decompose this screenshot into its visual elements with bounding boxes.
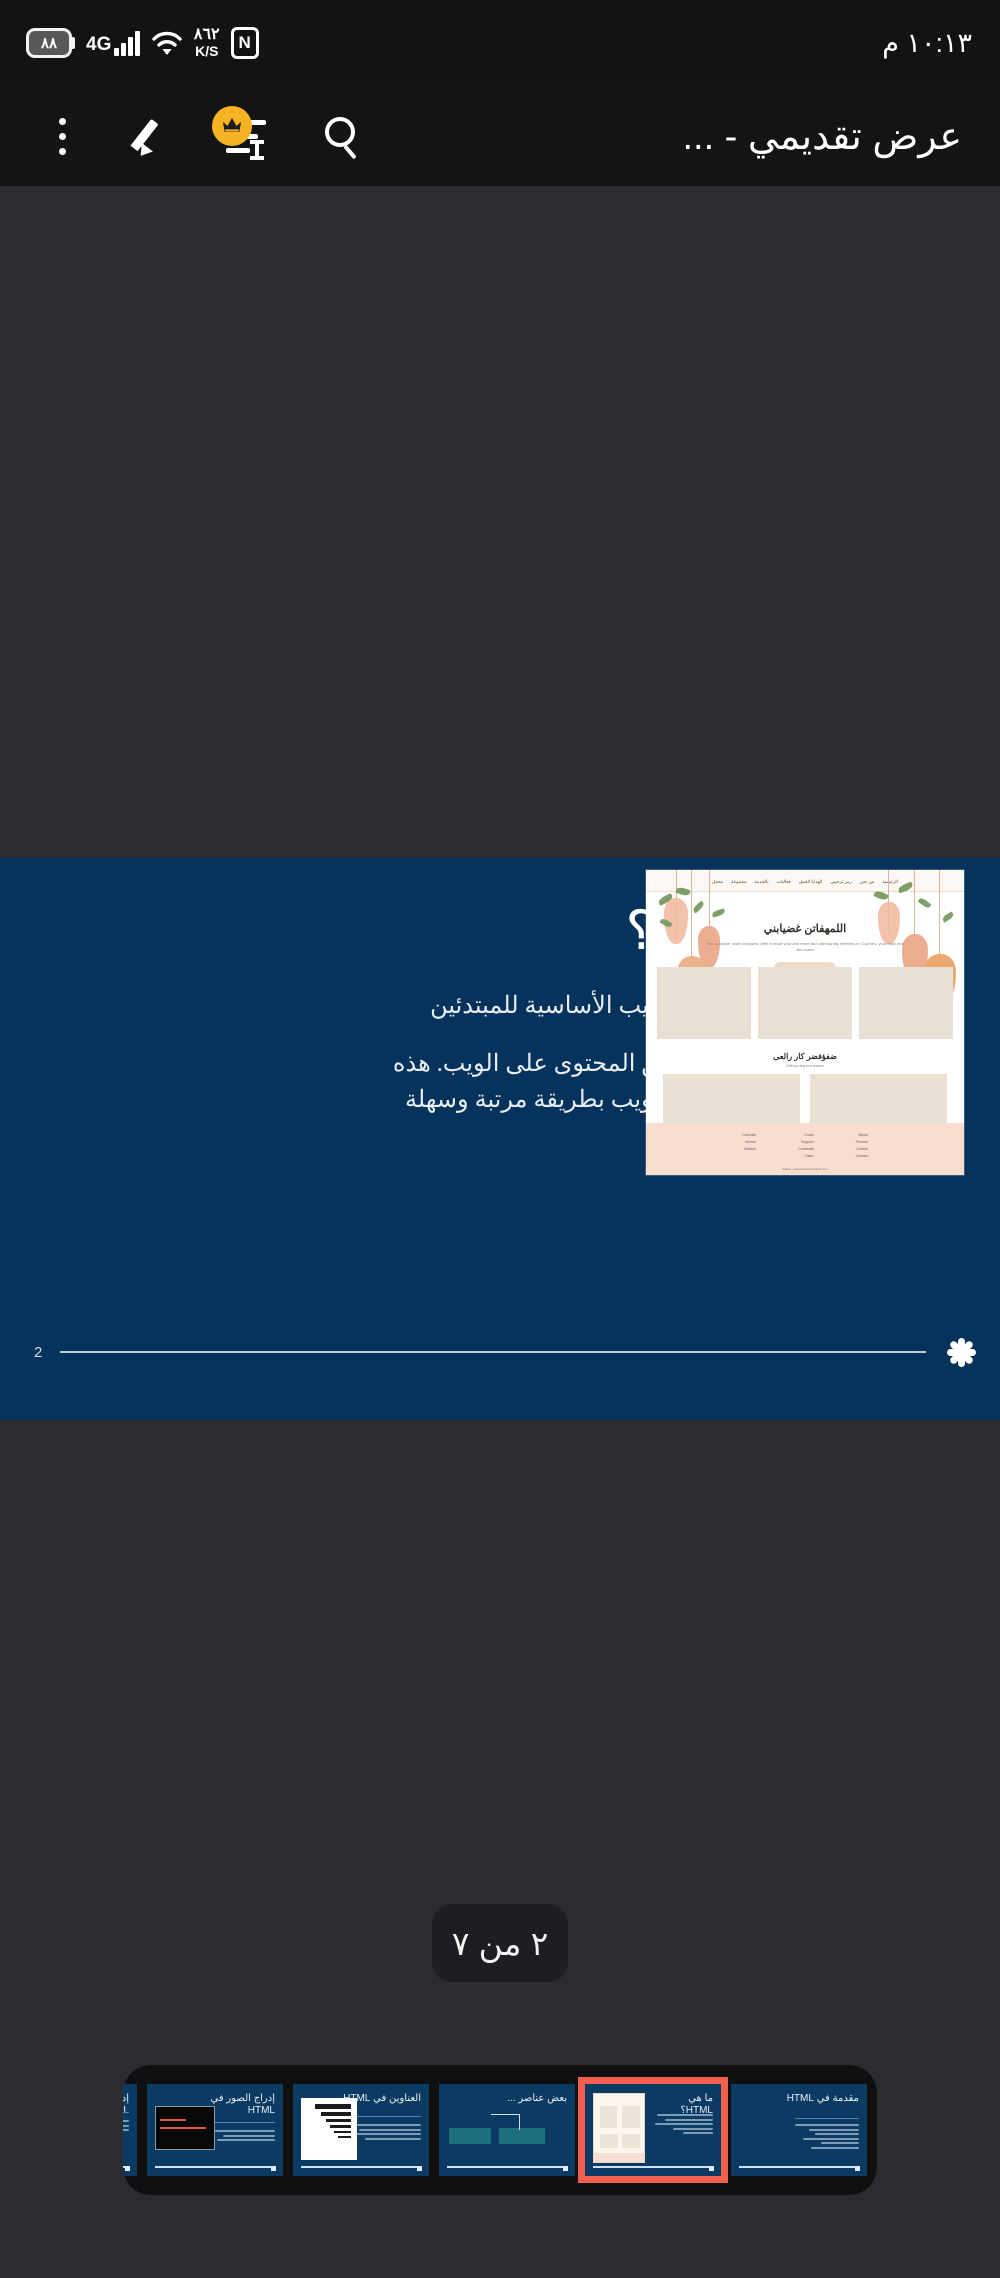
- mockup-footer-link: Cowh: [798, 1133, 814, 1137]
- mockup-card: [657, 967, 751, 1039]
- pencil-icon: [134, 114, 178, 158]
- thumbnail-bottom-bar: [155, 2166, 275, 2168]
- slide-footer: 2: [0, 1332, 1000, 1372]
- status-bar-clock: ١٠:١٣ م: [882, 28, 972, 59]
- thumbnail-title: مقدمة في HTML: [785, 2093, 859, 2105]
- thumbnail-bottom-bar: [301, 2166, 421, 2168]
- mockup-footer-link: Correst: [856, 1147, 868, 1151]
- mockup-nav-link: بالخدمة: [755, 879, 769, 885]
- mockup-footer-link: Promke: [856, 1140, 868, 1144]
- more-options-button[interactable]: [18, 92, 106, 180]
- thumbnail-code-block: [155, 2106, 215, 2150]
- mockup-card-row-1: [657, 967, 953, 1039]
- mockup-nav-link: الهدايا الجمل: [799, 879, 823, 885]
- mockup-footer-link: Support: [798, 1140, 814, 1144]
- current-slide[interactable]: ما هي HTML؟ HTML هي لغة بناء صفحات الويب…: [0, 858, 1000, 1420]
- mockup-nav-link: رمز ترحيبي: [830, 879, 851, 885]
- slide-thumbnail-strip[interactable]: مقدمة في HTML ما هي HTML؟ بعض عناصر ...: [123, 2065, 877, 2195]
- thumbnail-bottom-bar: [739, 2166, 859, 2168]
- thumbnail-rule: [353, 2116, 421, 2117]
- mockup-card-row-2: [663, 1074, 947, 1124]
- presentation-canvas[interactable]: ما هي HTML؟ HTML هي لغة بناء صفحات الويب…: [0, 186, 1000, 2058]
- thumbnail-title: بعض عناصر ...: [487, 2093, 567, 2105]
- text-format-button[interactable]: [206, 92, 294, 180]
- thumbnail-dot: [563, 2166, 568, 2171]
- thumbnail-slide-5[interactable]: إدراج الصور في HTML: [147, 2084, 283, 2176]
- thumbnail-body-lines: [209, 2130, 275, 2141]
- mockup-footer-copyright: Salora - statementcolomplp.ft.com: [646, 1167, 964, 1171]
- nfc-icon: N: [231, 27, 259, 59]
- thumbnail-body-lines: [783, 2124, 859, 2149]
- flower-decoration-icon: [944, 1335, 978, 1369]
- mockup-footer-link: Cumerald: [798, 1147, 814, 1151]
- mockup-footer: About Promke Correst Contact Cowh Suppor…: [646, 1123, 964, 1175]
- mockup-card: [810, 1074, 947, 1124]
- mockup-nav-link: مجموعة: [731, 879, 746, 885]
- document-title[interactable]: عرض تقديمي - ...: [388, 114, 976, 159]
- heading-line-4: [330, 2125, 351, 2128]
- cellular-signal-icon: 4G: [86, 30, 140, 56]
- status-bar-left-icons: ٨٨ 4G ٨٦٢ K/S N: [26, 27, 259, 59]
- slide-divider-line: [60, 1351, 926, 1353]
- network-speed-value: ٨٦٢: [194, 27, 220, 44]
- mockup-nav-link: محفل: [712, 879, 723, 885]
- heading-line-2: [321, 2112, 351, 2116]
- search-icon: [323, 115, 365, 157]
- thumbnail-connector-line: [491, 2114, 520, 2115]
- thumbnail-bottom-bar: [447, 2166, 567, 2168]
- mockup-navbar: الرئيسية من نحن رمز ترحيبي الهدايا الجمل…: [646, 870, 964, 892]
- thumbnail-slide-6[interactable]: إدراج رابط في HTML: [123, 2084, 137, 2176]
- mockup-hero-subtitle: You customer shall constantly offer a re…: [646, 941, 964, 954]
- thumbnail-dot: [271, 2166, 276, 2171]
- battery-level-label: ٨٨: [41, 34, 57, 52]
- mockup-section-subtitle: Without any test lesters: [646, 1064, 964, 1068]
- mockup-footer-link: Delides: [742, 1147, 756, 1151]
- heading-line-5: [334, 2131, 351, 2133]
- mockup-footer-link: Bormo: [742, 1140, 756, 1144]
- mockup-card: [859, 967, 953, 1039]
- thumbnail-title: إدراج الصور في HTML: [209, 2093, 275, 2117]
- thumbnail-body-lines: [651, 2114, 713, 2134]
- mockup-nav-link: الرئيسية: [882, 879, 898, 885]
- search-button[interactable]: [300, 92, 388, 180]
- app-toolbar: عرض تقديمي - ...: [0, 86, 1000, 186]
- thumbnail-headings-card: [301, 2098, 357, 2160]
- mockup-nav-link: فعاليات: [777, 879, 791, 885]
- overflow-menu-icon: [59, 118, 66, 155]
- mockup-nav-link: من نحن: [860, 879, 875, 885]
- status-bar: ٨٨ 4G ٨٦٢ K/S N ١٠:١٣ م: [0, 0, 1000, 86]
- thumbnail-body-lines: [123, 2120, 129, 2131]
- mockup-footer-link: Halro: [798, 1154, 814, 1158]
- network-speed-indicator: ٨٦٢ K/S: [194, 27, 220, 58]
- network-speed-unit: K/S: [195, 44, 218, 59]
- mockup-footer-link: Carlrrate: [742, 1133, 756, 1137]
- network-type-label: 4G: [86, 35, 111, 54]
- mockup-card: [758, 967, 852, 1039]
- thumbnail-image-preview: [593, 2093, 645, 2163]
- thumbnail-diagram-box: [449, 2128, 491, 2144]
- mockup-card: [663, 1074, 800, 1124]
- thumbnail-slide-3[interactable]: بعض عناصر ...: [439, 2084, 575, 2176]
- slide-page-number: 2: [34, 1344, 42, 1361]
- battery-icon: ٨٨: [26, 28, 75, 58]
- toolbar-actions: [18, 92, 388, 180]
- thumbnail-slide-2[interactable]: ما هي HTML؟: [585, 2084, 721, 2176]
- thumbnail-slide-1[interactable]: مقدمة في HTML: [731, 2084, 867, 2176]
- thumbnail-connector-line: [519, 2114, 520, 2130]
- page-indicator-badge: ٢ من ٧: [432, 1904, 568, 1982]
- thumbnail-dot: [855, 2166, 860, 2171]
- heading-line-3: [326, 2119, 351, 2122]
- thumbnail-dot: [709, 2166, 714, 2171]
- mockup-footer-link: Contact: [856, 1154, 868, 1158]
- thumbnail-dot: [125, 2166, 130, 2171]
- thumbnail-bottom-bar: [593, 2166, 713, 2168]
- thumbnail-rule: [123, 2112, 129, 2113]
- edit-button[interactable]: [112, 92, 200, 180]
- thumbnail-diagram-box: [499, 2128, 545, 2144]
- wifi-icon: [151, 28, 183, 58]
- thumbnail-headings-list: [305, 2104, 351, 2141]
- mockup-section-title: ضفؤفضر كار رالعى: [646, 1052, 964, 1061]
- heading-line-6: [338, 2136, 351, 2138]
- mockup-footer-link: About: [856, 1133, 868, 1137]
- slide-image-webpage-mockup: الرئيسية من نحن رمز ترحيبي الهدايا الجمل…: [646, 870, 964, 1175]
- mockup-hero-title: اللمهفاتن غضيابني: [646, 922, 964, 935]
- heading-line-1: [315, 2104, 351, 2109]
- premium-crown-icon: [212, 106, 252, 146]
- thumbnail-dot: [417, 2166, 422, 2171]
- thumbnail-rule: [795, 2118, 859, 2119]
- thumbnail-rule: [215, 2122, 275, 2123]
- nfc-label: N: [239, 33, 251, 53]
- thumbnail-title: إدراج رابط في HTML: [123, 2093, 129, 2117]
- thumbnail-slide-4[interactable]: العناوين في HTML: [293, 2084, 429, 2176]
